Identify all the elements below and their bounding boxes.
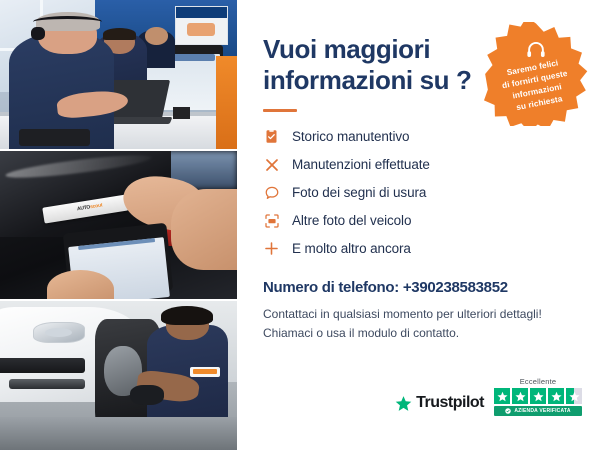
promo-card: AUTOscout Vuoi maggiori: [0, 0, 600, 450]
photo-call-center-agents-with-headsets: [0, 0, 237, 149]
second-agent-hair: [103, 28, 136, 40]
wall-poster: [175, 6, 227, 45]
list-item: Manutenzioni effettuate: [263, 156, 574, 173]
headline-line-2: informazioni su ?: [263, 65, 471, 95]
desk-tablet: [19, 129, 90, 145]
photo-vehicle-inspection-with-tablet: AUTOscout: [0, 151, 237, 300]
mechanic-hair: [161, 306, 213, 325]
feature-label: Storico manutentivo: [292, 129, 409, 144]
work-glove: [130, 385, 163, 406]
photo-frame-icon: [263, 212, 280, 229]
feature-label: Manutenzioni effettuate: [292, 157, 430, 172]
trustpilot-rating: Eccellente AZIENDA VERIFICATA: [494, 377, 582, 416]
verified-business-badge: AZIENDA VERIFICATA: [494, 406, 582, 416]
lower-grille: [9, 379, 85, 389]
trustpilot-widget[interactable]: Trustpilot Eccellente AZIENDA VERIFICATA: [395, 377, 582, 416]
headset-icon: [525, 39, 547, 61]
list-item: E molto altro ancora: [263, 240, 574, 257]
verified-label: AZIENDA VERIFICATA: [514, 408, 570, 414]
trustpilot-star-icon: [395, 395, 412, 412]
page-title: Vuoi maggiori informazioni su ?: [263, 34, 473, 95]
feature-label: E molto altro ancora: [292, 241, 411, 256]
phone-number-line: Numero di telefono: +390238583852: [263, 279, 574, 296]
headline-line-1: Vuoi maggiori: [263, 34, 430, 64]
trustpilot-wordmark: Trustpilot: [416, 394, 484, 412]
uniform-logo-patch: [190, 367, 221, 377]
star-filled-icon: [494, 388, 510, 404]
star-filled-icon: [512, 388, 528, 404]
list-item: Storico manutentivo: [263, 128, 574, 145]
photo-mechanic-wheel-service: [0, 301, 237, 450]
monitor-stand: [173, 107, 190, 119]
check-circle-icon: [505, 408, 511, 414]
star-filled-icon: [530, 388, 546, 404]
star-rating: [494, 388, 582, 404]
contact-instructions: Contattaci in qualsiasi momento per ulte…: [263, 305, 574, 342]
workshop-floor: [0, 417, 237, 450]
title-divider: [263, 109, 297, 112]
orange-panel: [216, 56, 237, 148]
feature-label: Altre foto del veicolo: [292, 213, 411, 228]
contact-line-1: Contattaci in qualsiasi momento per ulte…: [263, 305, 574, 324]
phone-number[interactable]: +390238583852: [403, 279, 508, 296]
feature-label: Foto dei segni di usura: [292, 185, 426, 200]
star-half-icon: [566, 388, 582, 404]
rating-label: Eccellente: [520, 377, 557, 386]
photo-gallery: AUTOscout: [0, 0, 237, 450]
headset-band: [33, 16, 102, 28]
plus-icon: [263, 240, 280, 257]
speech-bubble-icon: [263, 184, 280, 201]
front-grille: [0, 358, 85, 373]
technician-arm: [171, 189, 237, 269]
trustpilot-logo: Trustpilot: [395, 394, 484, 416]
headlight: [33, 322, 85, 343]
phone-label: Numero di telefono:: [263, 279, 403, 296]
clipboard-check-icon: [263, 128, 280, 145]
contact-line-2: Chiamaci o usa il modulo di contatto.: [263, 324, 574, 343]
list-item: Foto dei segni di usura: [263, 184, 574, 201]
info-panel: Vuoi maggiori informazioni su ? Storico …: [237, 0, 600, 450]
feature-list: Storico manutentivo Manutenzioni effettu…: [263, 128, 574, 257]
star-filled-icon: [548, 388, 564, 404]
background-person-head: [145, 27, 169, 45]
list-item: Altre foto del veicolo: [263, 212, 574, 229]
availability-badge: Saremo felici di fornirti queste informa…: [484, 22, 588, 126]
headset-earcup: [31, 27, 45, 40]
wrench-cross-icon: [263, 156, 280, 173]
